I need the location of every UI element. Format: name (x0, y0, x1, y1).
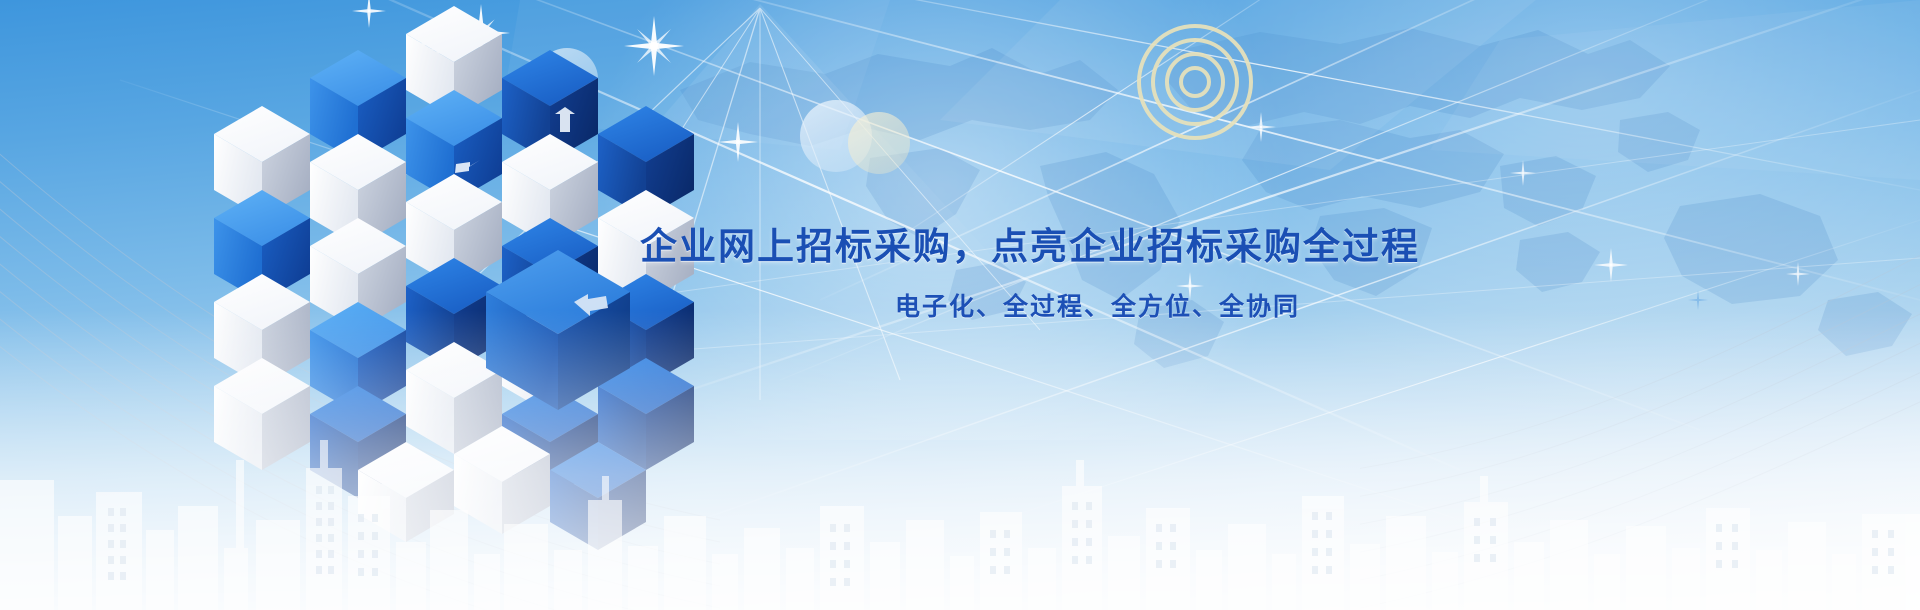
sparkle-star (1786, 262, 1810, 286)
concentric-rings (1135, 22, 1255, 142)
arc-filament-lines-right (1360, 210, 1920, 610)
promo-banner: 企业网上招标采购，点亮企业招标采购全过程 电子化、全过程、全方位、全协同 (0, 0, 1920, 610)
arrow-right-icon (574, 294, 608, 316)
bokeh-circle-left (536, 48, 598, 110)
sparkle-star (1594, 248, 1628, 282)
sparkle-star (624, 16, 684, 76)
sparkle-star (1510, 160, 1536, 186)
arc-filament-lines-left (0, 90, 720, 610)
bokeh-circle-blue (800, 100, 872, 172)
sky-glow-top-right (1140, 0, 1920, 440)
sky-glow-center (560, 0, 1320, 440)
banner-subheadline: 电子化、全过程、全方位、全协同 (640, 287, 1300, 323)
sparkle-star (1688, 290, 1708, 310)
banner-headline: 企业网上招标采购，点亮企业招标采购全过程 (640, 224, 1300, 269)
detached-cube (476, 240, 646, 420)
sparkle-star (452, 4, 510, 62)
sparkle-star (1246, 112, 1276, 142)
sparkle-star (718, 122, 758, 162)
arrow-left-icon (455, 160, 480, 173)
world-map-silhouette (620, 0, 1920, 400)
bokeh-circle-cream (848, 112, 910, 174)
banner-copy: 企业网上招标采购，点亮企业招标采购全过程 电子化、全过程、全方位、全协同 (640, 224, 1300, 323)
arrow-down-icon (524, 286, 544, 312)
sparkle-star (416, 22, 460, 66)
bottom-haze (0, 310, 1920, 610)
city-skyline-silhouette (0, 310, 1920, 610)
sparkle-star (352, 0, 386, 28)
arrow-up-icon (555, 107, 575, 132)
